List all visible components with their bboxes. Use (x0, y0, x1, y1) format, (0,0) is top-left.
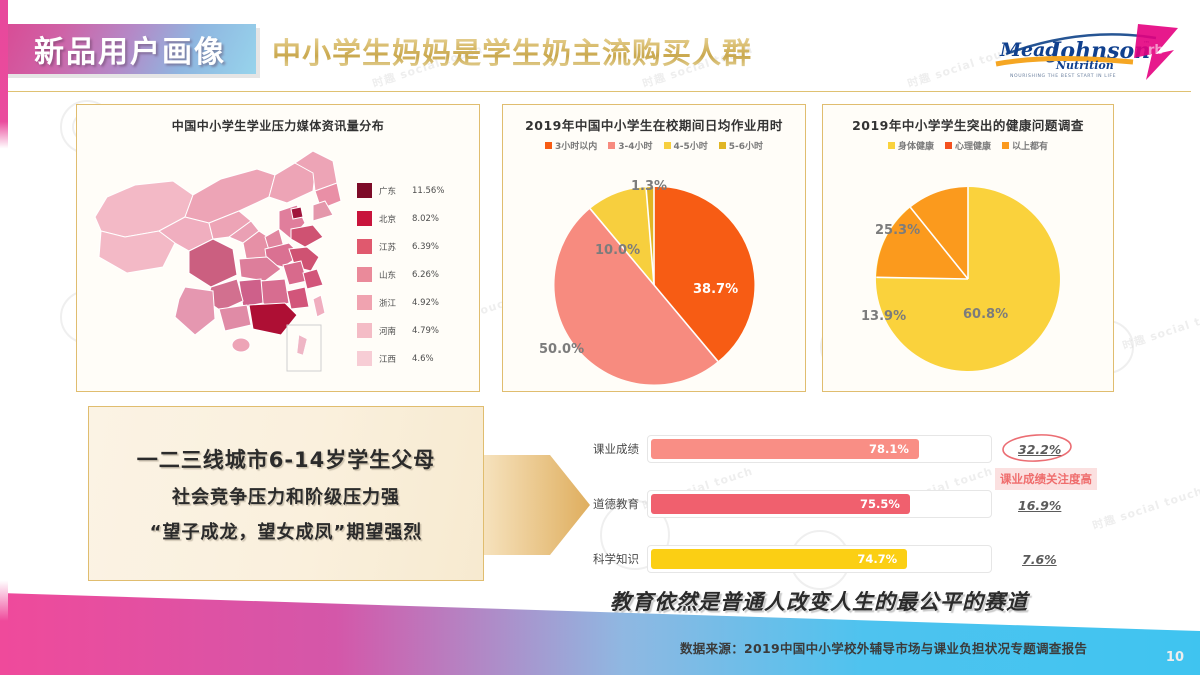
map-legend-row: 广东 11.56% (357, 183, 469, 198)
pie2-label-253: 25.3% (875, 223, 920, 238)
footer-source-text: 数据来源：2019中国中小学校外辅导市场与课业负担状况专题调查报告 (680, 638, 1087, 657)
legend-swatch (545, 142, 552, 149)
header-divider (8, 91, 1191, 92)
highlight-note: 课业成绩关注度高 (995, 468, 1097, 490)
legend-swatch (719, 142, 726, 149)
legend-swatch (357, 323, 372, 338)
legend-label: 4-5小时 (674, 139, 708, 152)
watermark-text: 时趣 social touch (1120, 303, 1200, 354)
pie2-legend-item: 身体健康 (888, 139, 934, 152)
pie2-chart-title: 2019年中小学学生突出的健康问题调查 (823, 115, 1113, 134)
legend-label: 身体健康 (898, 139, 934, 152)
insight-callout-box: 一二三线城市6-14岁学生父母 社会竞争压力和阶级压力强 “望子成龙，望女成凤”… (88, 406, 484, 581)
bar-category-label: 道德教育 (575, 496, 647, 512)
pie1-label-1: 1.3% (631, 179, 667, 194)
map-legend: 广东 11.56% 北京 8.02% 江苏 6.39% 山东 6.26% 浙江 (357, 183, 469, 379)
legend-value: 4.79% (412, 326, 439, 336)
svg-text:Nutrition: Nutrition (1055, 59, 1114, 72)
legend-label: 心理健康 (955, 139, 991, 152)
china-choropleth-map (89, 139, 351, 377)
legend-label: 5-6小时 (729, 139, 763, 152)
bar-category-label: 科学知识 (575, 551, 647, 567)
secondary-value-2: 7.6% (1022, 552, 1057, 567)
legend-swatch (357, 295, 372, 310)
callout-line-1: 一二三线城市6-14岁学生父母 (137, 444, 436, 474)
legend-swatch (357, 267, 372, 282)
legend-swatch (357, 211, 372, 226)
bar-row: 科学知识 74.7% (575, 542, 1015, 576)
legend-label: 广东 (379, 185, 405, 197)
legend-value: 6.39% (412, 242, 439, 252)
pie2-legend-item: 以上都有 (1002, 139, 1048, 152)
legend-value: 4.92% (412, 298, 439, 308)
legend-swatch (664, 142, 671, 149)
pie1-chart-title: 2019年中国中小学生在校期间日均作业用时 (503, 115, 805, 134)
pie2-legend: 身体健康 心理健康 以上都有 (823, 139, 1113, 152)
legend-label: 河南 (379, 325, 405, 337)
callout-line-2: 社会竞争压力和阶级压力强 (172, 483, 400, 509)
pie1-label-10: 10.0% (595, 243, 640, 258)
legend-swatch (357, 183, 372, 198)
map-legend-row: 北京 8.02% (357, 211, 469, 226)
legend-swatch (1002, 142, 1009, 149)
bar-value-label: 78.1% (869, 442, 919, 456)
legend-label: 山东 (379, 269, 405, 281)
footer-band (0, 585, 1200, 675)
legend-swatch (945, 142, 952, 149)
slide-canvas: 时趣 social touch 时趣 social touch 时趣 socia… (0, 0, 1200, 675)
page-title: 中小学生妈妈是学生奶主流购买人群 (272, 30, 752, 72)
pie2-plot-area: 60.8% 13.9% 25.3% (823, 157, 1113, 385)
bar-fill: 78.1% (651, 439, 919, 459)
bar-fill: 75.5% (651, 494, 910, 514)
legend-swatch (357, 239, 372, 254)
pie1-legend-item: 3-4小时 (608, 139, 652, 152)
bar-value-label: 75.5% (860, 497, 910, 511)
map-legend-row: 江苏 6.39% (357, 239, 469, 254)
legend-swatch (357, 351, 372, 366)
legend-label: 江苏 (379, 241, 405, 253)
panel-media-volume-map: 中国中小学生学业压力媒体资讯量分布 (76, 104, 480, 392)
bar-track: 74.7% (647, 545, 992, 573)
bar-row: 课业成绩 78.1% (575, 432, 1015, 466)
pie2-legend-item: 心理健康 (945, 139, 991, 152)
pie1-legend-item: 4-5小时 (664, 139, 708, 152)
page-number: 10 (1166, 650, 1184, 665)
map-legend-row: 江西 4.6% (357, 351, 469, 366)
map-legend-row: 河南 4.79% (357, 323, 469, 338)
section-badge-label: 新品用户画像 (34, 27, 226, 71)
secondary-value-1: 16.9% (1018, 498, 1061, 513)
legend-label: 以上都有 (1012, 139, 1048, 152)
pie1-plot-area: 38.7% 50.0% 10.0% 1.3% (503, 157, 805, 385)
pie1-label-50: 50.0% (539, 342, 584, 357)
svg-text:NOURISHING THE BEST START IN L: NOURISHING THE BEST START IN LIFE (1010, 73, 1116, 79)
map-legend-row: 浙江 4.92% (357, 295, 469, 310)
callout-line-3: “望子成龙，望女成凤”期望强烈 (150, 518, 423, 544)
bar-row: 道德教育 75.5% (575, 487, 1015, 521)
watermark-text: 时趣 social touch (1090, 483, 1200, 534)
legend-label: 浙江 (379, 297, 405, 309)
pie2-svg (864, 179, 1072, 379)
panel-homework-time-pie: 2019年中国中小学生在校期间日均作业用时 3小时以内 3-4小时 4-5小时 … (502, 104, 806, 392)
legend-label: 3-4小时 (618, 139, 652, 152)
meadjohnson-logo: Mead Johnson ™ Nutrition NOURISHING THE … (988, 24, 1178, 82)
legend-label: 北京 (379, 213, 405, 225)
map-legend-row: 山东 6.26% (357, 267, 469, 282)
pie2-label-139: 13.9% (861, 309, 906, 324)
bar-value-label: 74.7% (857, 552, 907, 566)
legend-value: 11.56% (412, 186, 444, 196)
pie1-legend-item: 5-6小时 (719, 139, 763, 152)
legend-value: 8.02% (412, 214, 439, 224)
legend-swatch (888, 142, 895, 149)
pie1-legend-item: 3小时以内 (545, 139, 597, 152)
pie1-label-38: 38.7% (693, 282, 738, 297)
bar-category-label: 课业成绩 (575, 441, 647, 457)
map-chart-title: 中国中小学生学业压力媒体资讯量分布 (77, 117, 479, 134)
pie1-legend: 3小时以内 3-4小时 4-5小时 5-6小时 (503, 139, 805, 152)
attention-bar-chart: 课业成绩 78.1% 道德教育 75.5% 科学知识 74.7% (575, 432, 1015, 577)
bar-track: 78.1% (647, 435, 992, 463)
legend-value: 6.26% (412, 270, 439, 280)
section-badge: 新品用户画像 (4, 24, 256, 74)
highlight-circle-annotation (1000, 433, 1074, 463)
bar-fill: 74.7% (651, 549, 907, 569)
legend-label: 江西 (379, 353, 405, 365)
svg-text:rb: rb (1148, 43, 1164, 58)
pie2-label-608: 60.8% (963, 307, 1008, 322)
legend-swatch (608, 142, 615, 149)
left-accent-bar (0, 0, 8, 675)
legend-label: 3小时以内 (555, 139, 597, 152)
bar-track: 75.5% (647, 490, 992, 518)
legend-value: 4.6% (412, 354, 434, 364)
panel-health-issue-pie: 2019年中小学学生突出的健康问题调查 身体健康 心理健康 以上都有 (822, 104, 1114, 392)
